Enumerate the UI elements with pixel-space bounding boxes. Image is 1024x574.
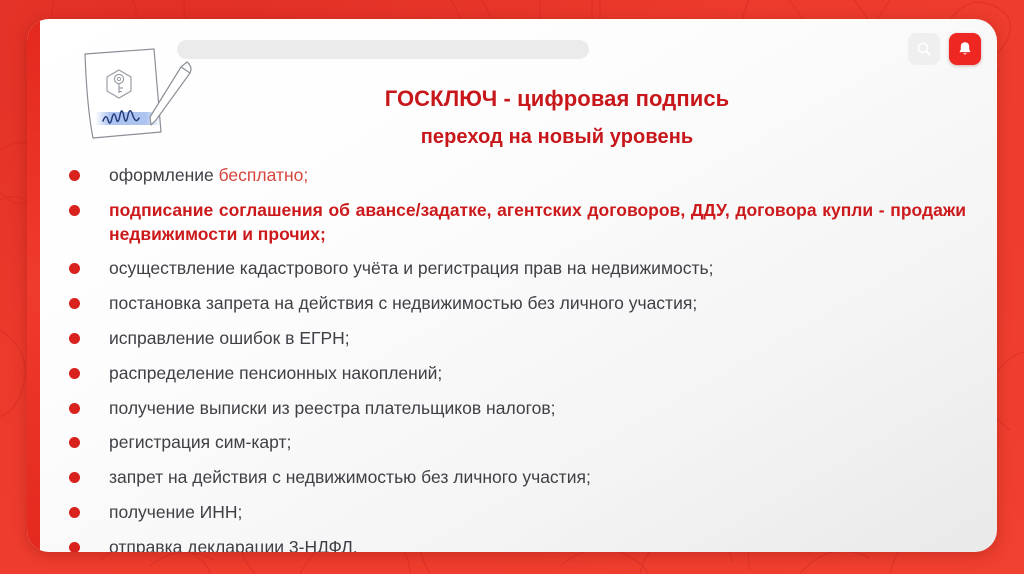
list-item-label: отправка декларации 3-НДФЛ. <box>109 536 984 552</box>
list-item-label: осуществление кадастрового учёта и регис… <box>109 257 984 281</box>
page-subtitle: переход на новый уровень <box>187 125 927 150</box>
search-icon[interactable] <box>908 33 940 65</box>
list-item: получение выписки из реестра плательщико… <box>59 397 984 421</box>
title-block: ГОСКЛЮЧ - цифровая подпись переход на но… <box>187 85 927 150</box>
list-item-lead: оформление <box>109 165 219 185</box>
bullet-dot-icon <box>69 507 80 518</box>
bullet-dot-icon <box>69 542 80 552</box>
bell-icon[interactable] <box>949 33 981 65</box>
list-item-accent: бесплатно; <box>219 165 309 185</box>
bullet-dot-icon <box>69 298 80 309</box>
header-icon-group <box>908 33 981 65</box>
list-item-label: оформление бесплатно; <box>109 164 984 188</box>
list-item-label: запрет на действия с недвижимостью без л… <box>109 466 984 490</box>
list-item-label: получение выписки из реестра плательщико… <box>109 397 984 421</box>
bullet-dot-icon <box>69 170 80 181</box>
bullet-dot-icon <box>69 333 80 344</box>
list-item: постановка запрета на действия с недвижи… <box>59 292 984 316</box>
list-item-label: исправление ошибок в ЕГРН; <box>109 327 984 351</box>
content-card: ГОСКЛЮЧ - цифровая подпись переход на но… <box>27 19 997 552</box>
bullet-dot-icon <box>69 205 80 216</box>
list-item: запрет на действия с недвижимостью без л… <box>59 466 984 490</box>
presentation-slide: ГОСКЛЮЧ - цифровая подпись переход на но… <box>0 0 1024 574</box>
bullet-dot-icon <box>69 472 80 483</box>
list-item: осуществление кадастрового учёта и регис… <box>59 257 984 281</box>
list-item-label: подписание соглашения об авансе/задатке,… <box>109 199 984 247</box>
page-title: ГОСКЛЮЧ - цифровая подпись <box>187 85 927 113</box>
bullet-dot-icon <box>69 403 80 414</box>
list-item-label: распределение пенсионных накоплений; <box>109 362 984 386</box>
list-item: подписание соглашения об авансе/задатке,… <box>59 199 984 247</box>
feature-list: оформление бесплатно; подписание соглаше… <box>59 164 984 552</box>
list-item: распределение пенсионных накоплений; <box>59 362 984 386</box>
search-input[interactable] <box>177 40 589 59</box>
list-item-label: регистрация сим-карт; <box>109 431 984 455</box>
list-item: отправка декларации 3-НДФЛ. <box>59 536 984 552</box>
list-item: исправление ошибок в ЕГРН; <box>59 327 984 351</box>
bullet-dot-icon <box>69 368 80 379</box>
bullet-dot-icon <box>69 437 80 448</box>
left-accent-rail <box>27 19 40 552</box>
list-item: получение ИНН; <box>59 501 984 525</box>
list-item-label: постановка запрета на действия с недвижи… <box>109 292 984 316</box>
list-item: регистрация сим-карт; <box>59 431 984 455</box>
list-item-label: получение ИНН; <box>109 501 984 525</box>
bullet-dot-icon <box>69 263 80 274</box>
list-item: оформление бесплатно; <box>59 164 984 188</box>
